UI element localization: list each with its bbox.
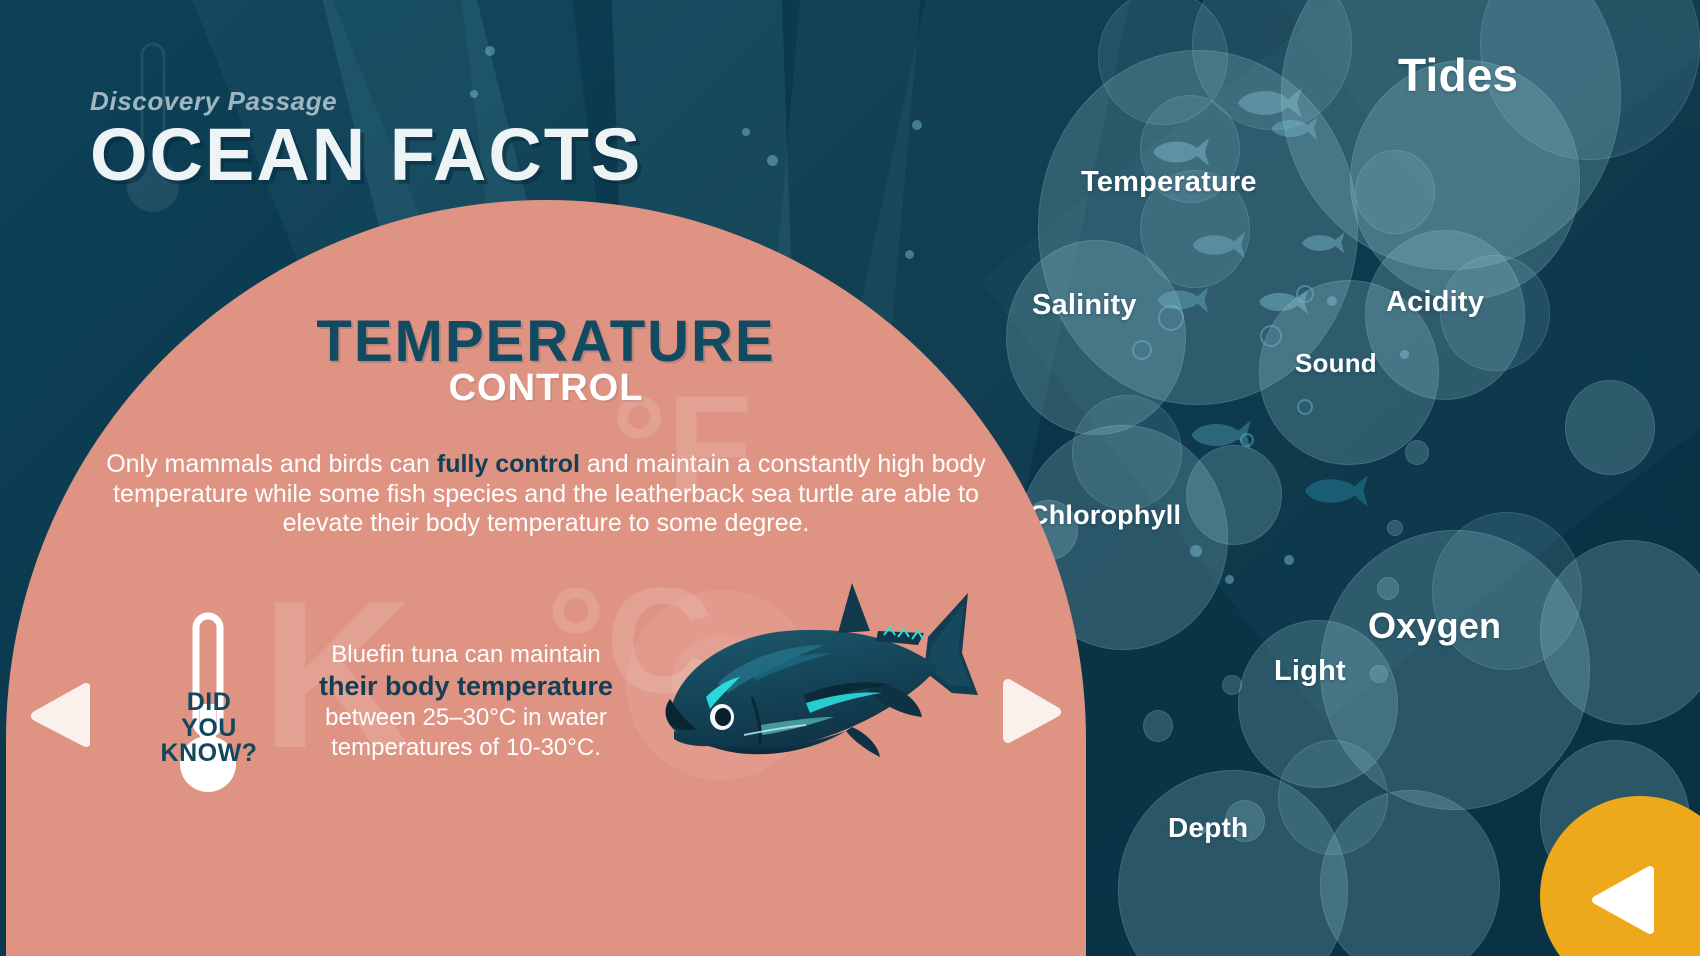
next-arrow-button[interactable]	[1002, 678, 1062, 744]
topic-label-acidity[interactable]: Acidity	[1386, 286, 1484, 319]
topic-label-light[interactable]: Light	[1274, 655, 1346, 688]
topic-label-sound[interactable]: Sound	[1295, 348, 1377, 379]
topic-label-depth[interactable]: Depth	[1168, 812, 1248, 844]
card-body-text: Only mammals and birds can fully control…	[86, 450, 1006, 539]
topic-label-tides[interactable]: Tides	[1398, 48, 1518, 102]
kiosk-screen: Tides Temperature Salinity Acidity Sound…	[0, 0, 1700, 956]
page-title: OCEAN FACTS	[90, 119, 642, 190]
topic-label-temperature[interactable]: Temperature	[1081, 166, 1257, 199]
fact-card: K °F °C TEMPERATURE CONTROL Only mammals…	[6, 200, 1086, 956]
fact-text-block: Bluefin tuna can maintain their body tem…	[256, 640, 676, 763]
fact-line-1: Bluefin tuna can maintain	[256, 640, 676, 670]
card-title-main: TEMPERATURE	[6, 308, 1086, 375]
fact-line-3: between 25–30°C in water	[256, 703, 676, 733]
fact-line-bold: their body temperature	[319, 671, 613, 701]
fish-silhouette	[1295, 473, 1371, 509]
fact-line-4: temperatures of 10-30°C.	[256, 733, 676, 763]
body-text-part1: Only mammals and birds can	[106, 450, 437, 478]
topic-label-chlorophyll[interactable]: Chlorophyll	[1029, 500, 1181, 531]
did-you-know-label: DID YOU KNOW?	[124, 690, 294, 767]
dyk-line3: KNOW?	[124, 741, 294, 767]
bluefin-tuna-illustration	[656, 575, 986, 790]
dyk-line1: DID	[124, 690, 294, 716]
card-title-group: TEMPERATURE CONTROL	[6, 308, 1086, 410]
card-title-sub: CONTROL	[6, 367, 1086, 410]
back-triangle-icon	[1586, 862, 1658, 938]
dyk-line2: YOU	[124, 716, 294, 742]
prev-arrow-button[interactable]	[30, 682, 90, 748]
topic-label-oxygen[interactable]: Oxygen	[1368, 605, 1501, 647]
header: Discovery Passage OCEAN FACTS	[90, 86, 642, 190]
body-text-emphasis: fully control	[437, 450, 580, 478]
